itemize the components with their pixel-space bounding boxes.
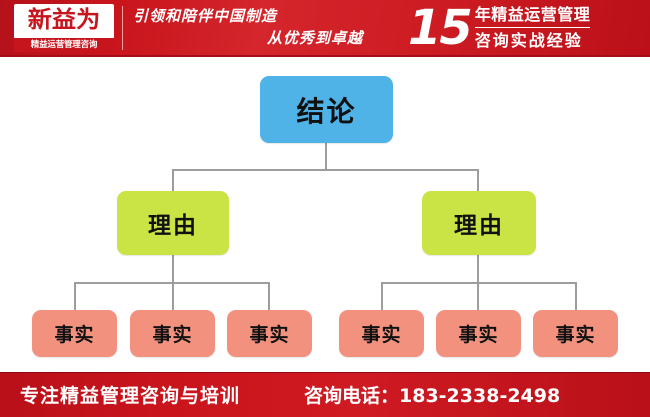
footer-slogan: 专注精益管理咨询与培训 [20, 381, 240, 408]
connector-fact-1-drop [74, 282, 76, 310]
slogan-line-1: 引领和陪伴中国制造 [133, 5, 383, 27]
node-fact-5-label: 事实 [458, 320, 498, 347]
node-fact-2-label: 事实 [152, 320, 192, 347]
node-fact-2[interactable]: 事实 [130, 310, 215, 357]
company-logo: 新益为 精益运营管理咨询 [14, 4, 114, 52]
node-reason-left-label: 理由 [148, 206, 198, 240]
slogan-line-2: 从优秀到卓越 [133, 27, 383, 49]
node-fact-3-label: 事实 [249, 320, 289, 347]
connector-fact-5-drop [477, 282, 479, 310]
connector-conclusion-stem [325, 143, 327, 170]
connector-reason-right-stem [477, 255, 479, 283]
years-experience-badge: 15 年精益运营管理 咨询实战经验 [408, 1, 590, 55]
years-text-line-1: 年精益运营管理 [475, 4, 591, 28]
header-banner: 新益为 精益运营管理咨询 引领和陪伴中国制造 从优秀到卓越 15 年精益运营管理… [0, 0, 650, 57]
node-fact-1-label: 事实 [54, 320, 94, 347]
years-text-line-2: 咨询实战经验 [475, 28, 591, 53]
connector-fact-2-drop [172, 282, 174, 310]
connector-reasons-bus [172, 169, 479, 171]
node-fact-6-label: 事实 [555, 320, 595, 347]
node-fact-1[interactable]: 事实 [32, 310, 117, 357]
node-reason-right[interactable]: 理由 [422, 191, 536, 255]
node-fact-4[interactable]: 事实 [339, 310, 424, 357]
node-fact-6[interactable]: 事实 [533, 310, 618, 357]
node-fact-3[interactable]: 事实 [227, 310, 312, 357]
node-conclusion-label: 结论 [296, 90, 356, 130]
footer-phone: 咨询电话：183-2338-2498 [304, 381, 560, 408]
connector-reason-left-drop [172, 169, 174, 191]
years-number: 15 [408, 3, 471, 53]
header-slogan: 引领和陪伴中国制造 从优秀到卓越 [133, 5, 383, 49]
logo-brand-text: 新益为 [14, 6, 115, 34]
node-reason-left[interactable]: 理由 [117, 191, 229, 255]
node-fact-5[interactable]: 事实 [436, 310, 521, 357]
connector-reason-right-drop [477, 169, 479, 191]
node-reason-right-label: 理由 [454, 206, 504, 240]
connector-facts-right-bus [381, 282, 577, 284]
footer-banner: 专注精益管理咨询与培训 咨询电话：183-2338-2498 [0, 372, 650, 417]
header-divider [122, 6, 123, 50]
years-text-block: 年精益运营管理 咨询实战经验 [475, 4, 591, 53]
connector-fact-3-drop [268, 282, 270, 310]
node-conclusion[interactable]: 结论 [260, 76, 393, 143]
logo-tagline-text: 精益运营管理咨询 [14, 38, 114, 52]
diagram-canvas: 结论 理由 理由 事实 事实 事实 事实 事实 事实 [0, 57, 650, 372]
connector-fact-4-drop [381, 282, 383, 310]
connector-fact-6-drop [575, 282, 577, 310]
node-fact-4-label: 事实 [361, 320, 401, 347]
connector-reason-left-stem [172, 255, 174, 283]
